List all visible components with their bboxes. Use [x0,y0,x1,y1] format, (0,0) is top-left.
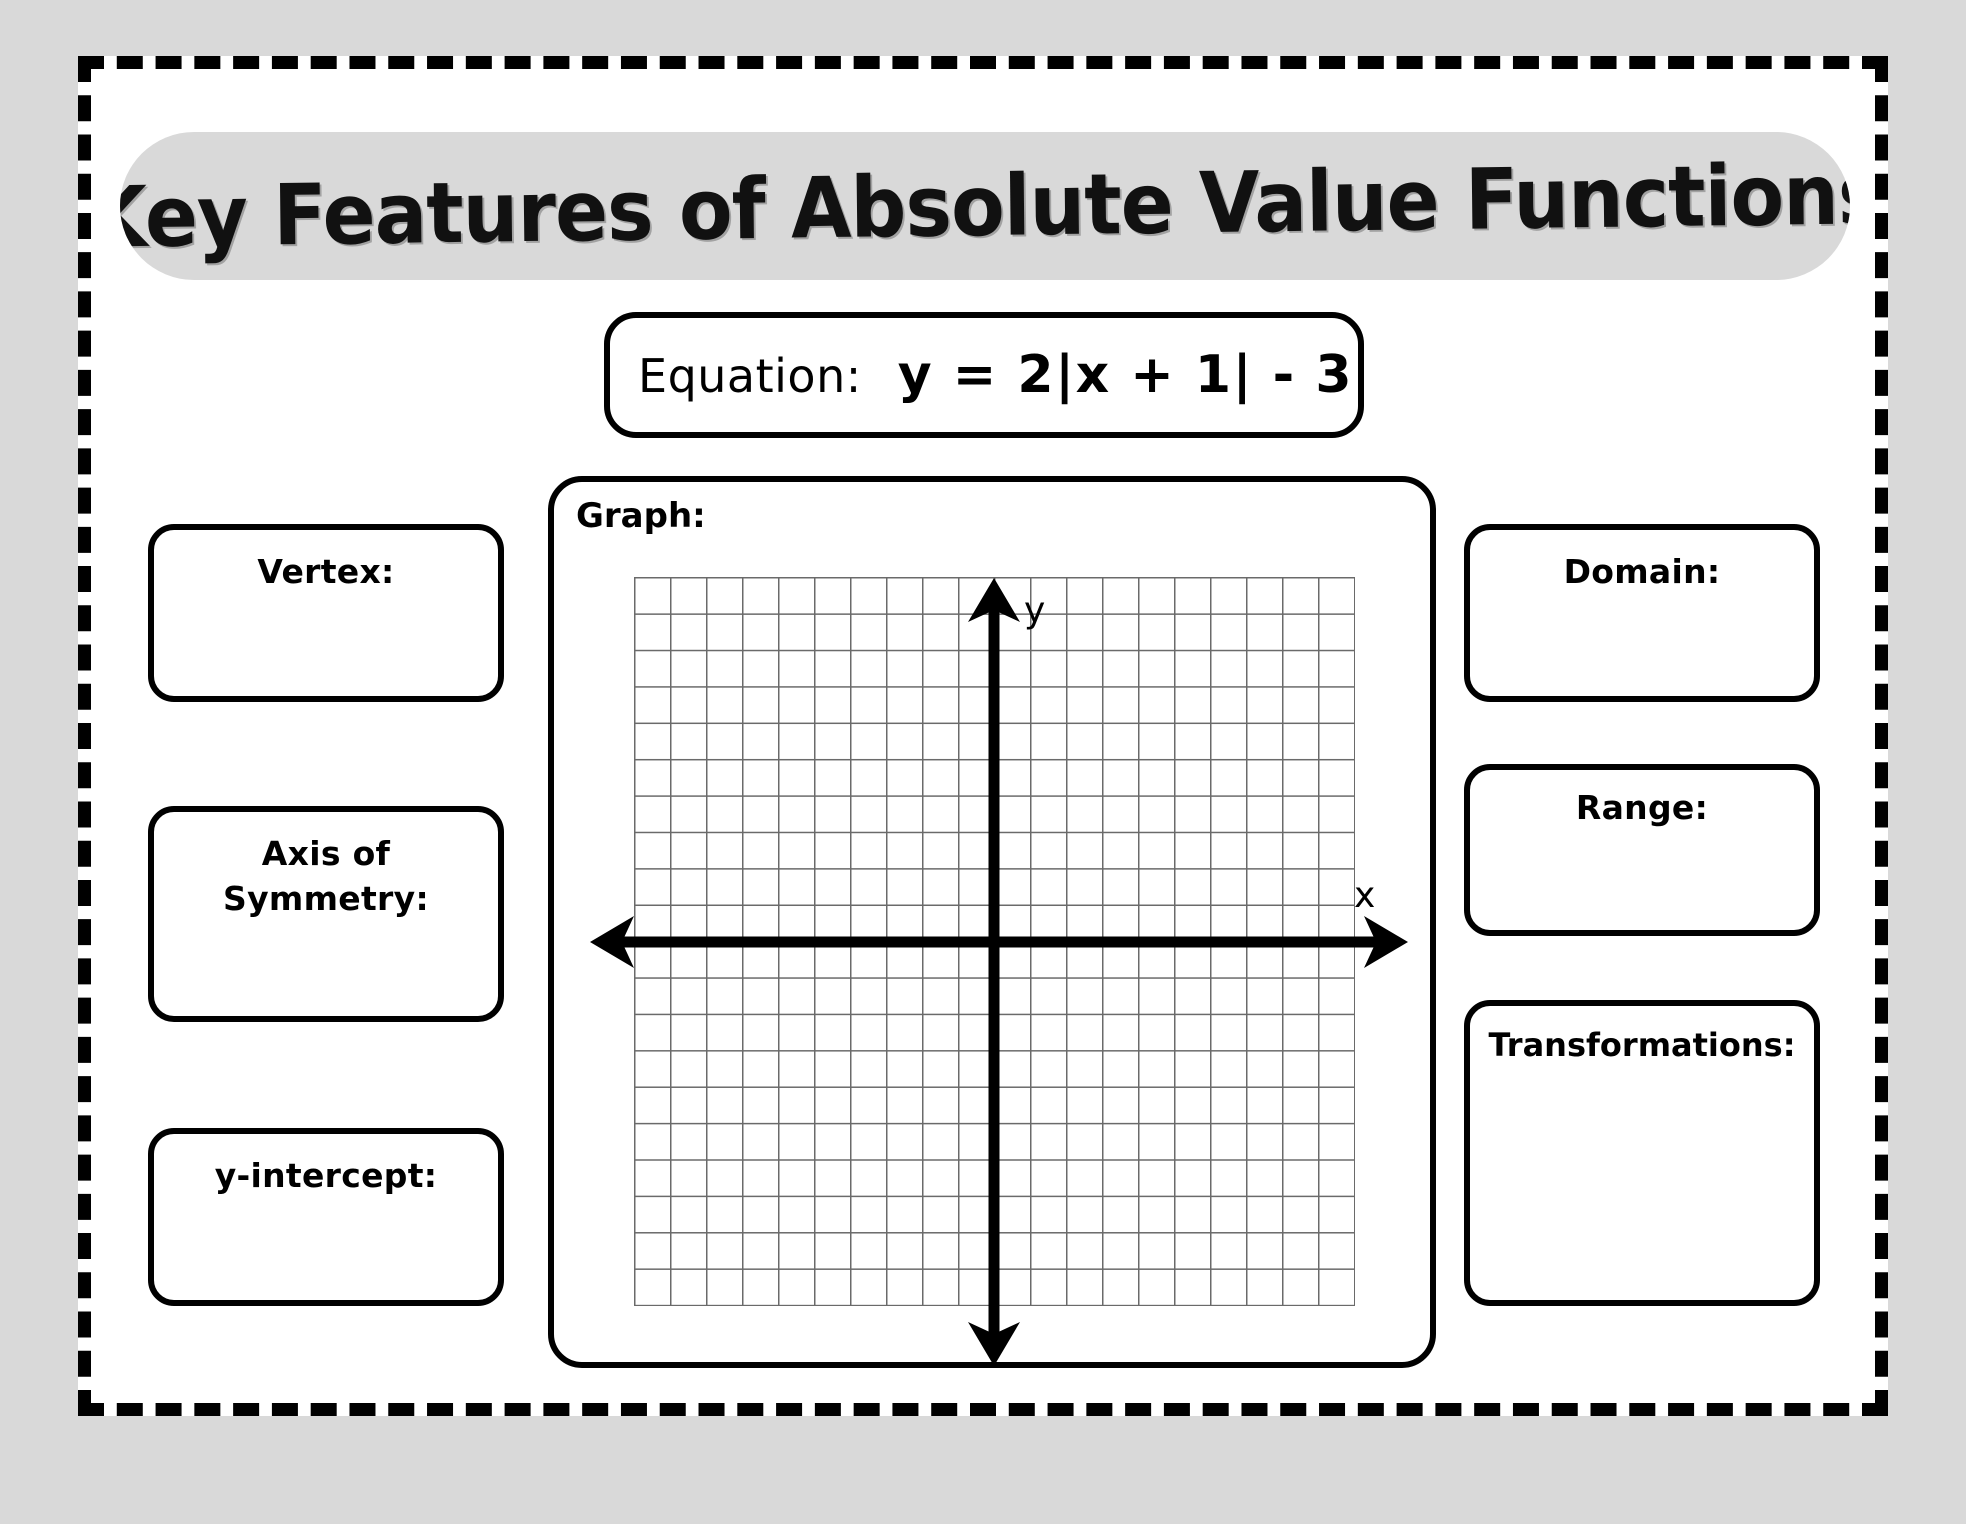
graph-label: Graph: [576,496,706,536]
axis-of-symmetry-label: Axis of Symmetry: [154,832,498,921]
range-box[interactable]: Range: [1464,764,1820,936]
x-axis-right-arrowhead [1364,916,1408,968]
graph-box[interactable]: Graph: y x [548,476,1436,1368]
y-intercept-label: y-intercept: [154,1154,498,1199]
transformations-box[interactable]: Transformations: [1464,1000,1820,1306]
y-axis-down-arrowhead [968,1322,1020,1366]
vertex-label: Vertex: [154,550,498,595]
coordinate-grid[interactable] [634,577,1355,1306]
domain-box[interactable]: Domain: [1464,524,1820,702]
equation-label: Equation: [638,349,862,403]
domain-label: Domain: [1470,550,1814,595]
vertex-box[interactable]: Vertex: [148,524,504,702]
axis-of-symmetry-box[interactable]: Axis of Symmetry: [148,806,504,1022]
page-title: Key Features of Absolute Value Functions [120,145,1850,267]
equation-row: Equation: y = 2|x + 1| - 3 [610,345,1353,405]
title-banner: Key Features of Absolute Value Functions [120,132,1850,280]
y-intercept-box[interactable]: y-intercept: [148,1128,504,1306]
axis-of-symmetry-label-line1: Axis of [262,834,390,873]
equation-box[interactable]: Equation: y = 2|x + 1| - 3 [604,312,1364,438]
x-axis-left-arrowhead [590,916,634,968]
transformations-label: Transformations: [1470,1024,1814,1067]
worksheet-page: Key Features of Absolute Value Functions… [0,0,1966,1524]
equation-value: y = 2|x + 1| - 3 [898,345,1353,405]
range-label: Range: [1470,786,1814,831]
axis-of-symmetry-label-line2: Symmetry: [223,879,429,918]
x-axis-label: x [1354,875,1375,916]
